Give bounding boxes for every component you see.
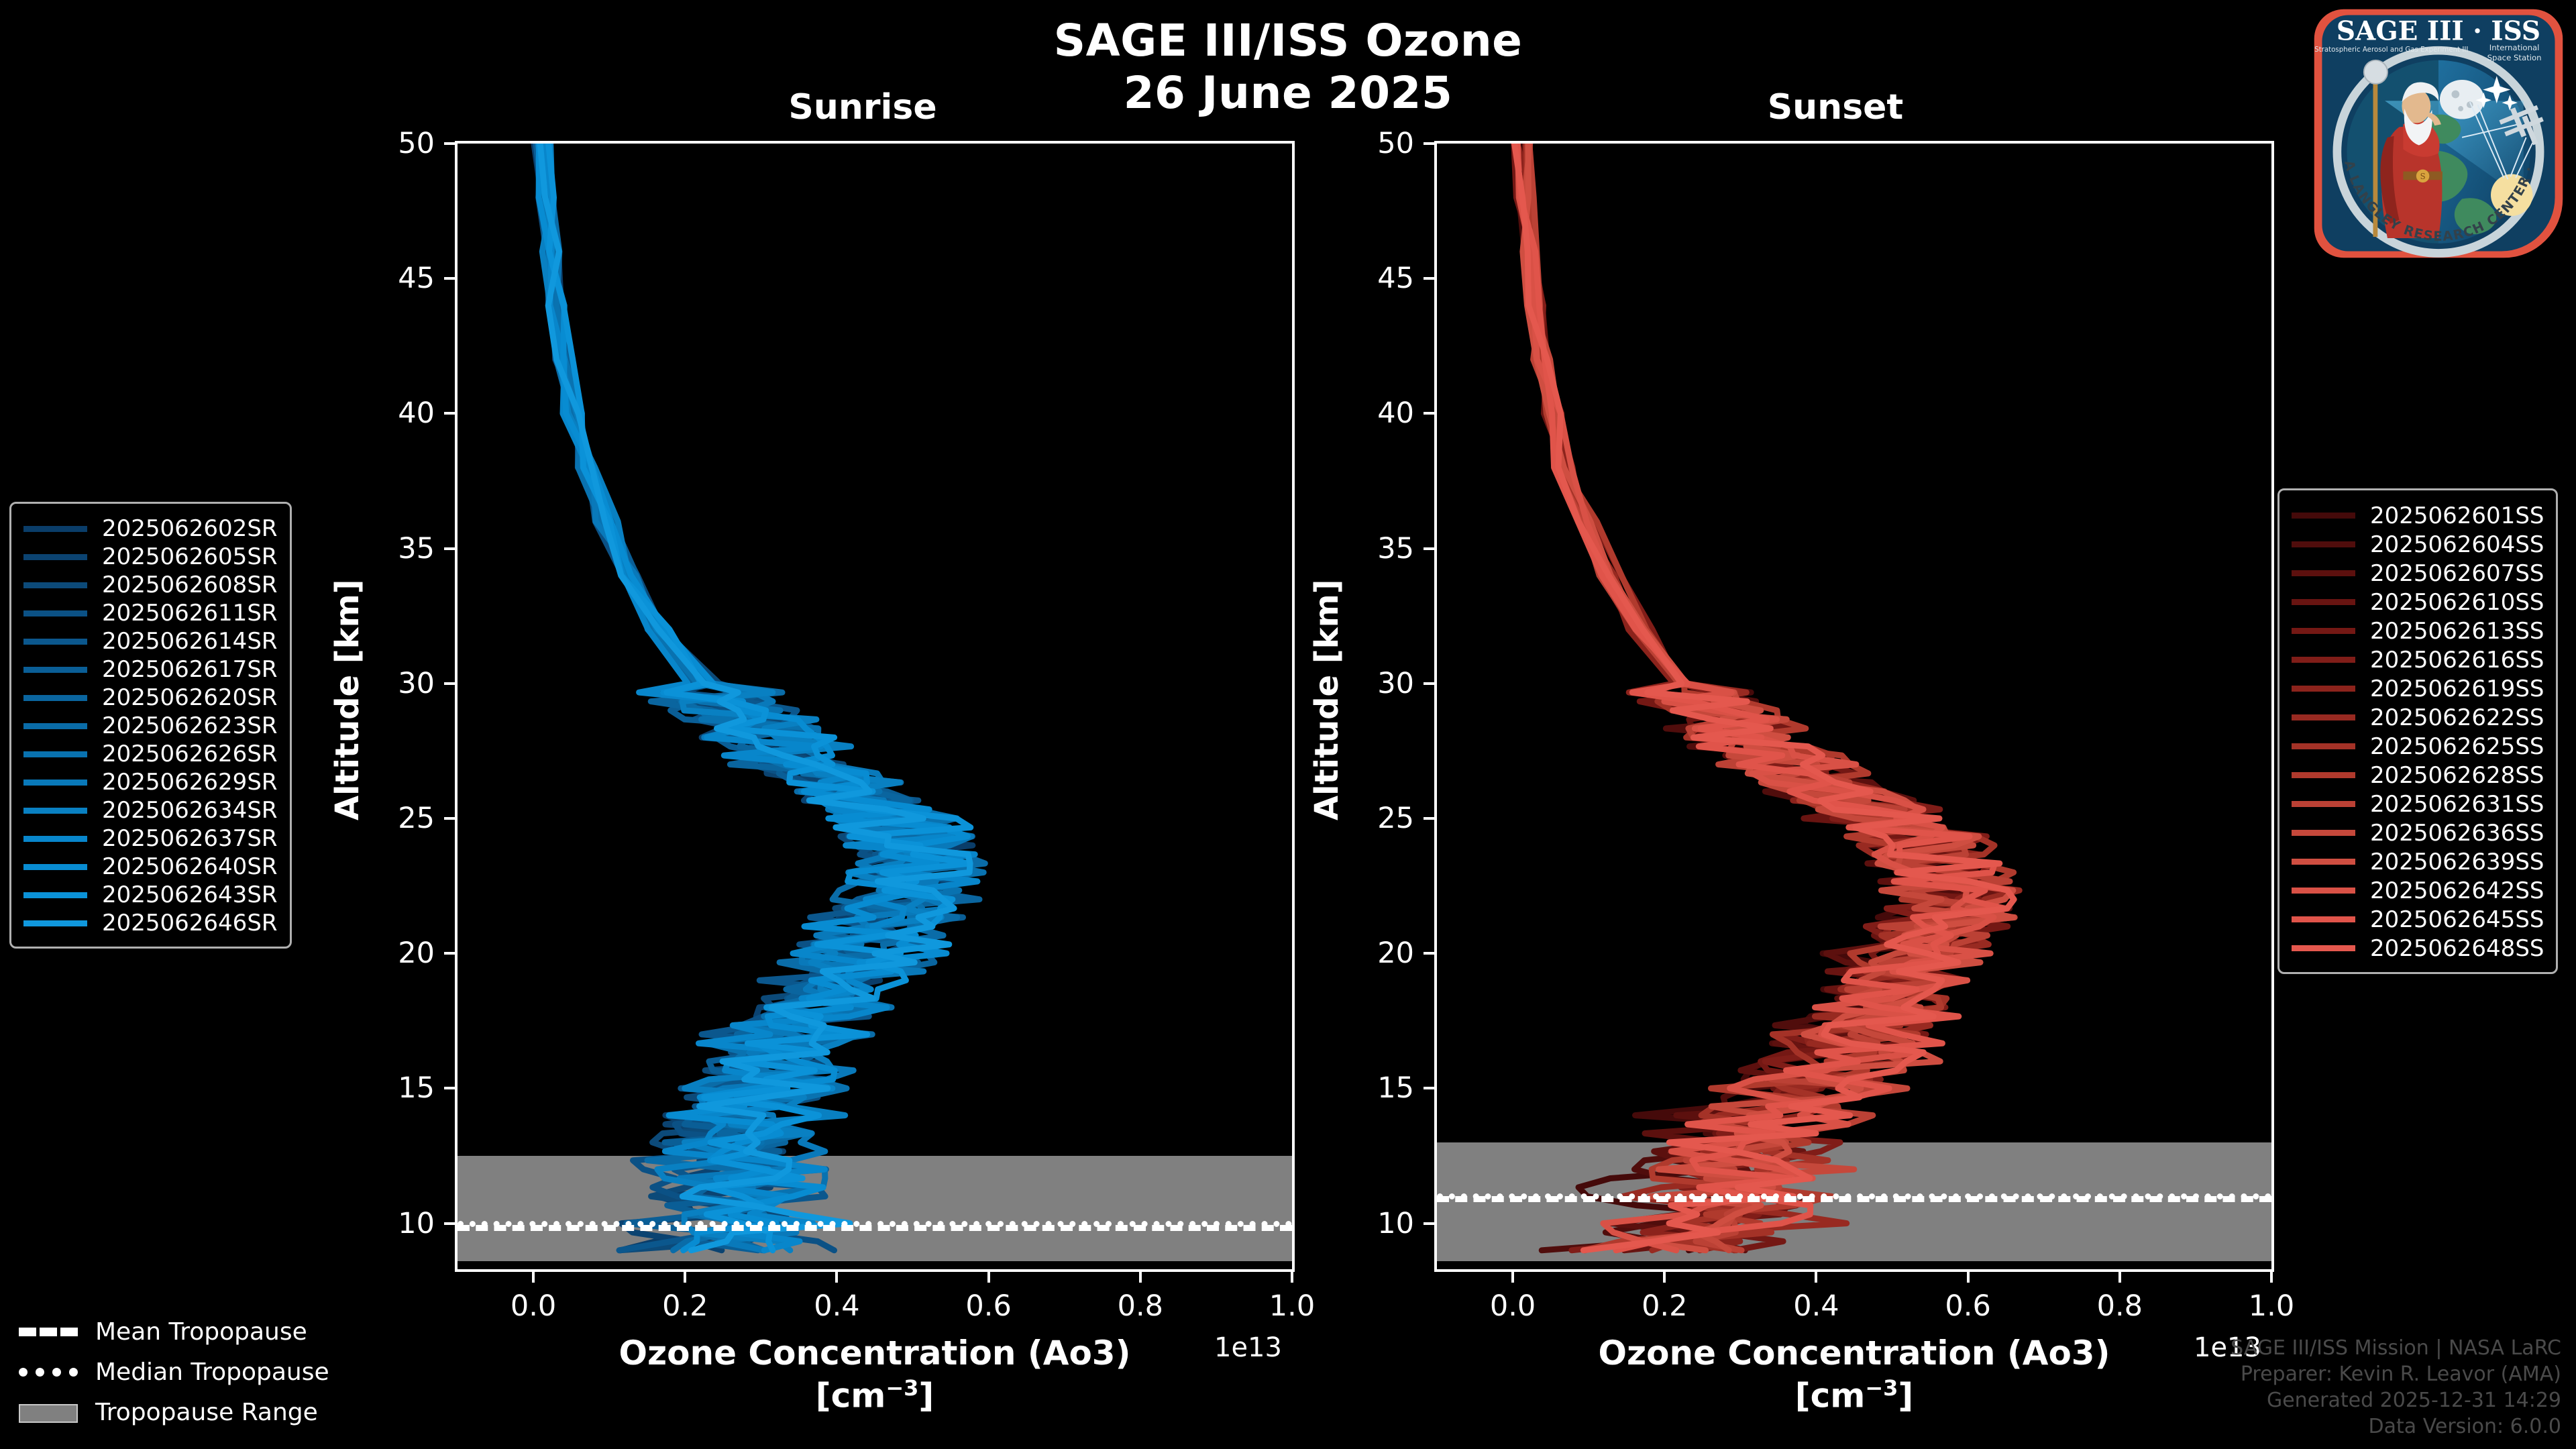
ozone-profile-curves bbox=[458, 144, 1292, 1269]
logo-title: SAGE III · ISS bbox=[2337, 16, 2540, 47]
y-axis-label: Altitude [km] bbox=[1308, 592, 1346, 820]
legend-color-swatch bbox=[23, 639, 87, 645]
legend-sunrise-item[interactable]: 2025062640SR bbox=[23, 853, 278, 881]
legend-color-swatch bbox=[23, 582, 87, 588]
x-axis-label: Ozone Concentration (Ao3)[cm−3] bbox=[1434, 1332, 2274, 1417]
plot-sunset bbox=[1434, 141, 2274, 1272]
y-tick-mark bbox=[444, 817, 455, 820]
legend-sunrise-item[interactable]: 2025062605SR bbox=[23, 543, 278, 571]
legend-item-label: 2025062601SS bbox=[2370, 502, 2544, 529]
legend-item-label: 2025062640SR bbox=[102, 853, 278, 880]
x-tick-mark bbox=[2118, 1272, 2121, 1283]
y-tick-label: 25 bbox=[1334, 802, 1414, 835]
legend-sunset-item[interactable]: 2025062619SS bbox=[2292, 674, 2544, 703]
x-tick-label: 0.6 bbox=[1921, 1289, 2015, 1323]
legend-item-label: 2025062610SS bbox=[2370, 589, 2544, 616]
y-tick-mark bbox=[1424, 277, 1434, 280]
x-tick-mark bbox=[1291, 1272, 1293, 1283]
legend-sunset-item[interactable]: 2025062610SS bbox=[2292, 588, 2544, 616]
legend-item-label: 2025062604SS bbox=[2370, 531, 2544, 558]
y-tick-label: 45 bbox=[1334, 262, 1414, 295]
legend-item-label: 2025062613SS bbox=[2370, 618, 2544, 645]
plot-area-sunset bbox=[1437, 144, 2271, 1269]
legend-color-swatch bbox=[2292, 513, 2355, 519]
legend-sunset-item[interactable]: 2025062636SS bbox=[2292, 818, 2544, 847]
legend-sunset-item[interactable]: 2025062642SS bbox=[2292, 876, 2544, 905]
tropopause-range-key-icon bbox=[19, 1404, 78, 1420]
y-tick-label: 10 bbox=[1334, 1207, 1414, 1240]
ozone-profile-curves bbox=[1437, 144, 2271, 1269]
y-tick-mark bbox=[444, 682, 455, 685]
legend-item-label: 2025062639SS bbox=[2370, 849, 2544, 875]
legend-sunset-item[interactable]: 2025062625SS bbox=[2292, 732, 2544, 761]
median-tropopause-line bbox=[458, 1221, 1292, 1227]
y-tick-mark bbox=[1424, 1087, 1434, 1089]
legend-sunrise[interactable]: 2025062602SR2025062605SR2025062608SR2025… bbox=[9, 502, 292, 949]
legend-sunset-item[interactable]: 2025062604SS bbox=[2292, 530, 2544, 559]
legend-sunset-item[interactable]: 2025062622SS bbox=[2292, 703, 2544, 732]
legend-item-label: 2025062648SS bbox=[2370, 935, 2544, 962]
legend-item-label: 2025062605SR bbox=[102, 543, 278, 570]
y-tick-label: 15 bbox=[1334, 1071, 1414, 1105]
legend-sunset-item[interactable]: 2025062616SS bbox=[2292, 645, 2544, 674]
x-tick-label: 0.8 bbox=[2073, 1289, 2167, 1323]
x-axis-label: Ozone Concentration (Ao3)[cm−3] bbox=[455, 1332, 1295, 1417]
legend-color-swatch bbox=[2292, 714, 2355, 720]
legend-item-label: 2025062616SS bbox=[2370, 647, 2544, 674]
x-tick-label: 1.0 bbox=[1245, 1289, 1339, 1323]
y-tick-label: 25 bbox=[354, 802, 435, 835]
x-tick-mark bbox=[1815, 1272, 1817, 1283]
legend-sunset-item[interactable]: 2025062613SS bbox=[2292, 616, 2544, 645]
legend-item-label: 2025062629SR bbox=[102, 769, 278, 796]
legend-color-swatch bbox=[23, 610, 87, 616]
y-axis-label: Altitude [km] bbox=[329, 592, 366, 820]
legend-item-label: 2025062637SR bbox=[102, 825, 278, 852]
y-tick-label: 50 bbox=[1334, 127, 1414, 160]
legend-sunrise-item[interactable]: 2025062602SR bbox=[23, 515, 278, 543]
legend-item-label: 2025062634SR bbox=[102, 797, 278, 824]
legend-color-swatch bbox=[2292, 888, 2355, 894]
legend-item-label: 2025062617SR bbox=[102, 656, 278, 683]
plot-sunrise bbox=[455, 141, 1295, 1272]
legend-sunrise-item[interactable]: 2025062614SR bbox=[23, 627, 278, 655]
x-tick-mark bbox=[1663, 1272, 1666, 1283]
x-tick-label: 0.2 bbox=[638, 1289, 732, 1323]
legend-sunrise-item[interactable]: 2025062634SR bbox=[23, 796, 278, 824]
x-tick-mark bbox=[2270, 1272, 2273, 1283]
legend-color-swatch bbox=[23, 892, 87, 898]
y-tick-label: 35 bbox=[354, 532, 435, 566]
y-tick-label: 40 bbox=[354, 396, 435, 430]
legend-item-label: 2025062623SR bbox=[102, 712, 278, 739]
legend-color-swatch bbox=[2292, 801, 2355, 807]
legend-item-label: 2025062614SR bbox=[102, 628, 278, 655]
y-tick-label: 45 bbox=[354, 262, 435, 295]
legend-item-label: 2025062646SR bbox=[102, 910, 278, 936]
y-tick-mark bbox=[444, 547, 455, 550]
y-tick-mark bbox=[1424, 952, 1434, 955]
footer-line-mission: SAGE III/ISS Mission | NASA LaRC bbox=[2231, 1335, 2561, 1361]
y-tick-mark bbox=[444, 412, 455, 415]
x-tick-mark bbox=[1139, 1272, 1142, 1283]
legend-sunset-item[interactable]: 2025062631SS bbox=[2292, 790, 2544, 818]
x-tick-label: 0.6 bbox=[942, 1289, 1036, 1323]
legend-item-label: 2025062642SS bbox=[2370, 877, 2544, 904]
legend-color-swatch bbox=[23, 808, 87, 814]
legend-item-label: 2025062626SR bbox=[102, 741, 278, 767]
legend-sunrise-item[interactable]: 2025062626SR bbox=[23, 740, 278, 768]
legend-item-label: 2025062622SS bbox=[2370, 704, 2544, 731]
legend-sunset-item[interactable]: 2025062601SS bbox=[2292, 501, 2544, 530]
legend-color-swatch bbox=[23, 723, 87, 729]
legend-sunset-item[interactable]: 2025062645SS bbox=[2292, 905, 2544, 934]
sage-iii-iss-logo-icon: S SAGE III · ISS Stratospheric Aerosol a… bbox=[2308, 3, 2569, 264]
tropopause-legend-item: Tropopause Range bbox=[19, 1392, 329, 1432]
x-tick-mark bbox=[835, 1272, 838, 1283]
title-line-1: SAGE III/ISS Ozone bbox=[1054, 15, 1523, 66]
x-axis-label-text: Ozone Concentration (Ao3) bbox=[1599, 1334, 2110, 1373]
y-tick-mark bbox=[1424, 1222, 1434, 1225]
legend-color-swatch bbox=[2292, 657, 2355, 663]
legend-sunrise-item[interactable]: 2025062643SR bbox=[23, 881, 278, 909]
x-tick-label: 0.4 bbox=[790, 1289, 883, 1323]
y-tick-mark bbox=[444, 952, 455, 955]
legend-color-swatch bbox=[23, 554, 87, 560]
x-axis-exponent: 1e13 bbox=[1214, 1332, 1282, 1363]
y-tick-label: 15 bbox=[354, 1071, 435, 1105]
y-tick-label: 30 bbox=[354, 667, 435, 700]
tropopause-legend-item: Mean Tropopause bbox=[19, 1311, 329, 1352]
x-tick-label: 0.0 bbox=[1466, 1289, 1560, 1323]
legend-color-swatch bbox=[2292, 570, 2355, 576]
legend-color-swatch bbox=[2292, 945, 2355, 951]
legend-sunset-item[interactable]: 2025062628SS bbox=[2292, 761, 2544, 790]
legend-sunset-item[interactable]: 2025062639SS bbox=[2292, 847, 2544, 876]
y-tick-mark bbox=[1424, 412, 1434, 415]
legend-color-swatch bbox=[2292, 743, 2355, 749]
legend-item-label: 2025062643SR bbox=[102, 881, 278, 908]
legend-color-swatch bbox=[23, 836, 87, 842]
legend-item-label: 2025062636SS bbox=[2370, 820, 2544, 847]
legend-color-swatch bbox=[2292, 830, 2355, 836]
legend-item-label: 2025062620SR bbox=[102, 684, 278, 711]
legend-sunrise-item[interactable]: 2025062646SR bbox=[23, 909, 278, 937]
legend-sunrise-item[interactable]: 2025062637SR bbox=[23, 824, 278, 853]
panel-title-sunrise: Sunrise bbox=[729, 87, 997, 127]
x-tick-mark bbox=[987, 1272, 990, 1283]
legend-sunset-item[interactable]: 2025062607SS bbox=[2292, 559, 2544, 588]
median-tropopause-key-icon bbox=[19, 1364, 78, 1380]
panel-title-sunset: Sunset bbox=[1701, 87, 1970, 127]
legend-sunrise-item[interactable]: 2025062623SR bbox=[23, 712, 278, 740]
y-tick-mark bbox=[444, 1222, 455, 1225]
legend-color-swatch bbox=[2292, 772, 2355, 778]
legend-sunrise-item[interactable]: 2025062620SR bbox=[23, 684, 278, 712]
legend-sunrise-item[interactable]: 2025062608SR bbox=[23, 571, 278, 599]
tropopause-legend: Mean TropopauseMedian TropopauseTropopau… bbox=[19, 1311, 329, 1432]
y-tick-label: 30 bbox=[1334, 667, 1414, 700]
median-tropopause-line bbox=[1437, 1193, 2271, 1199]
x-tick-label: 0.4 bbox=[1769, 1289, 1863, 1323]
tropopause-legend-label: Mean Tropopause bbox=[95, 1318, 307, 1346]
footer-line-preparer: Preparer: Kevin R. Leavor (AMA) bbox=[2231, 1361, 2561, 1387]
legend-color-swatch bbox=[2292, 686, 2355, 692]
y-tick-mark bbox=[444, 1087, 455, 1089]
legend-color-swatch bbox=[2292, 859, 2355, 865]
legend-color-swatch bbox=[23, 780, 87, 786]
x-tick-label: 0.8 bbox=[1093, 1289, 1187, 1323]
legend-sunrise-item[interactable]: 2025062629SR bbox=[23, 768, 278, 796]
mean-tropopause-key-icon bbox=[19, 1324, 78, 1340]
footer-credits: SAGE III/ISS Mission | NASA LaRC Prepare… bbox=[2231, 1335, 2561, 1440]
x-tick-mark bbox=[1511, 1272, 1514, 1283]
legend-color-swatch bbox=[23, 864, 87, 870]
x-tick-label: 0.2 bbox=[1617, 1289, 1711, 1323]
logo-subtitle-left: Stratospheric Aerosol and Gas Experiment… bbox=[2314, 46, 2468, 54]
legend-sunrise-item[interactable]: 2025062611SR bbox=[23, 599, 278, 627]
ozone-profile-line bbox=[1526, 144, 2014, 1250]
legend-color-swatch bbox=[23, 695, 87, 701]
legend-color-swatch bbox=[2292, 916, 2355, 922]
x-tick-label: 0.0 bbox=[486, 1289, 580, 1323]
legend-item-label: 2025062619SS bbox=[2370, 676, 2544, 702]
x-tick-mark bbox=[684, 1272, 686, 1283]
logo-subtitle-right-1: International bbox=[2489, 43, 2540, 52]
plot-area-sunrise bbox=[458, 144, 1292, 1269]
legend-color-swatch bbox=[23, 667, 87, 673]
y-tick-mark bbox=[1424, 547, 1434, 550]
y-tick-mark bbox=[1424, 682, 1434, 685]
legend-color-swatch bbox=[2292, 628, 2355, 634]
y-tick-label: 50 bbox=[354, 127, 435, 160]
x-axis-label-text: Ozone Concentration (Ao3) bbox=[619, 1334, 1131, 1373]
tropopause-legend-item: Median Tropopause bbox=[19, 1352, 329, 1392]
tropopause-legend-label: Median Tropopause bbox=[95, 1358, 329, 1386]
legend-item-label: 2025062602SR bbox=[102, 515, 278, 542]
legend-item-label: 2025062645SS bbox=[2370, 906, 2544, 933]
legend-color-swatch bbox=[23, 920, 87, 926]
x-tick-mark bbox=[532, 1272, 535, 1283]
svg-text:S: S bbox=[2420, 172, 2426, 181]
footer-line-generated: Generated 2025-12-31 14:29 bbox=[2231, 1387, 2561, 1413]
y-tick-mark bbox=[444, 142, 455, 145]
legend-color-swatch bbox=[23, 751, 87, 757]
legend-item-label: 2025062608SR bbox=[102, 572, 278, 598]
y-tick-mark bbox=[444, 277, 455, 280]
legend-color-swatch bbox=[2292, 541, 2355, 547]
legend-item-label: 2025062631SS bbox=[2370, 791, 2544, 818]
legend-color-swatch bbox=[23, 526, 87, 532]
x-axis-unit: [cm−3] bbox=[455, 1375, 1295, 1417]
x-tick-mark bbox=[1967, 1272, 1970, 1283]
legend-sunset[interactable]: 2025062601SS2025062604SS2025062607SS2025… bbox=[2277, 488, 2558, 974]
y-tick-label: 40 bbox=[1334, 396, 1414, 430]
y-tick-label: 10 bbox=[354, 1207, 435, 1240]
legend-item-label: 2025062628SS bbox=[2370, 762, 2544, 789]
footer-line-version: Data Version: 6.0.0 bbox=[2231, 1413, 2561, 1440]
title-line-2: 26 June 2025 bbox=[0, 67, 2576, 119]
legend-item-label: 2025062611SR bbox=[102, 600, 278, 627]
x-axis-unit: [cm−3] bbox=[1434, 1375, 2274, 1417]
page-title: SAGE III/ISS Ozone 26 June 2025 bbox=[0, 15, 2576, 119]
legend-item-label: 2025062625SS bbox=[2370, 733, 2544, 760]
y-tick-label: 20 bbox=[354, 936, 435, 970]
legend-item-label: 2025062607SS bbox=[2370, 560, 2544, 587]
tropopause-legend-label: Tropopause Range bbox=[95, 1399, 318, 1426]
y-tick-label: 35 bbox=[1334, 532, 1414, 566]
y-tick-mark bbox=[1424, 142, 1434, 145]
logo-subtitle-right-2: Space Station bbox=[2487, 53, 2542, 62]
y-tick-mark bbox=[1424, 817, 1434, 820]
x-tick-label: 1.0 bbox=[2224, 1289, 2318, 1323]
legend-sunrise-item[interactable]: 2025062617SR bbox=[23, 655, 278, 684]
legend-sunset-item[interactable]: 2025062648SS bbox=[2292, 934, 2544, 963]
y-tick-label: 20 bbox=[1334, 936, 1414, 970]
legend-color-swatch bbox=[2292, 599, 2355, 605]
